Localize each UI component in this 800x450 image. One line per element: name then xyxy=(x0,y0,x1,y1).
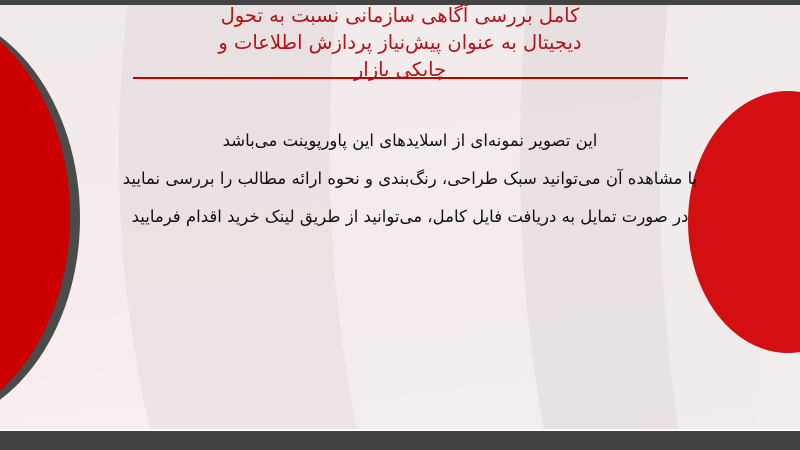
slide-title: کامل بررسی آگاهی سازمانی نسبت به تحول دی… xyxy=(60,2,740,83)
slide-bottom-frame-bar xyxy=(0,431,800,450)
slide-canvas: کامل بررسی آگاهی سازمانی نسبت به تحول دی… xyxy=(0,0,800,450)
body-line-3: در صورت تمایل به دریافت فایل کامل، می‌تو… xyxy=(90,198,730,236)
slide-body-text: این تصویر نمونه‌ای از اسلایدهای این پاور… xyxy=(90,122,730,236)
body-line-2: با مشاهده آن می‌توانید سبک طراحی، رنگ‌بن… xyxy=(90,160,730,198)
body-line-1: این تصویر نمونه‌ای از اسلایدهای این پاور… xyxy=(90,122,730,160)
title-divider-rule xyxy=(133,77,688,79)
